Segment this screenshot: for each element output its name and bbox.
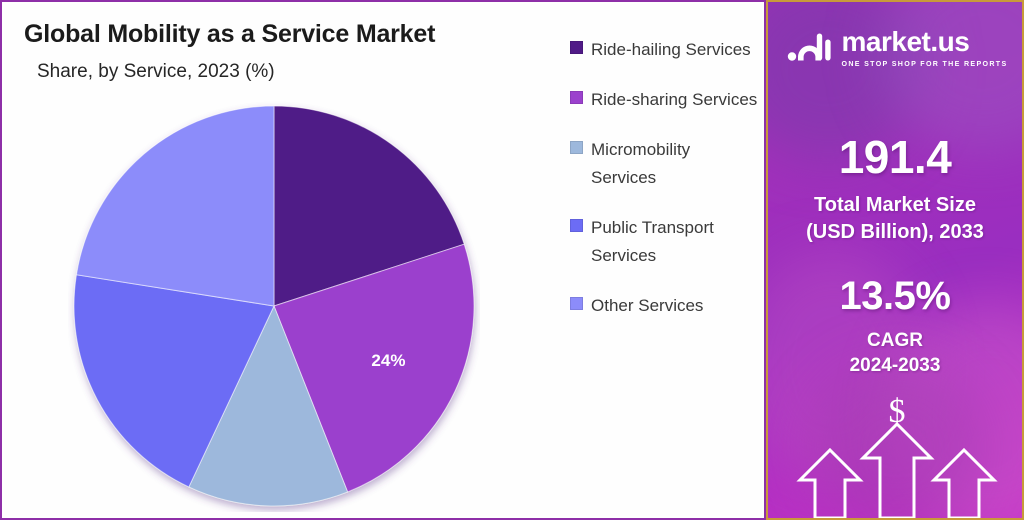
legend-item-other-services[interactable]: Other Services [570, 292, 760, 320]
pie-chart-svg [68, 100, 480, 512]
market-size-label: Total Market Size (USD Billion), 2033 [768, 192, 1022, 246]
market-size-label-line1: Total Market Size [814, 194, 976, 216]
arrow-up-right-icon [934, 450, 994, 518]
legend-item-public-transport[interactable]: Public Transport Services [570, 214, 760, 270]
pie-slices [74, 106, 474, 506]
cagr-value: 13.5% [768, 274, 1022, 319]
pie-chart: 24% [68, 100, 480, 512]
logo-tagline: ONE STOP SHOP FOR THE REPORTS [842, 60, 1008, 68]
cagr-label: CAGR 2024-2033 [768, 328, 1022, 378]
chart-legend: Ride-hailing Services Ride-sharing Servi… [570, 36, 760, 342]
cagr-label-line1: CAGR [867, 330, 923, 351]
logo-wordmark: market.us [842, 28, 970, 56]
page-title: Global Mobility as a Service Market [24, 20, 435, 49]
legend-item-micromobility[interactable]: Micromobility Services [570, 136, 760, 192]
arrow-up-center-icon [863, 424, 931, 518]
growth-arrows-graphic: $ [768, 388, 1024, 518]
legend-label: Public Transport Services [591, 214, 760, 270]
legend-swatch-icon [570, 141, 583, 154]
legend-swatch-icon [570, 91, 583, 104]
legend-swatch-icon [570, 297, 583, 310]
legend-swatch-icon [570, 219, 583, 232]
stats-sidebar: market.us ONE STOP SHOP FOR THE REPORTS … [766, 0, 1024, 520]
market-us-logo-icon [787, 30, 833, 67]
market-size-label-line2: (USD Billion), 2033 [806, 221, 984, 243]
legend-item-ride-sharing[interactable]: Ride-sharing Services [570, 86, 760, 114]
chart-infographic: Global Mobility as a Service Market Shar… [0, 0, 1024, 520]
legend-label: Micromobility Services [591, 136, 760, 192]
legend-label: Other Services [591, 292, 703, 320]
pie-slice[interactable] [76, 106, 274, 306]
brand-logo[interactable]: market.us ONE STOP SHOP FOR THE REPORTS [784, 28, 1010, 68]
pie-slice-label-ride-sharing: 24% [371, 351, 405, 371]
arrow-up-left-icon [800, 450, 860, 518]
market-size-value: 191.4 [768, 130, 1022, 184]
cagr-label-line2: 2024-2033 [850, 355, 941, 376]
chart-panel-inner: Global Mobility as a Service Market Shar… [4, 4, 762, 516]
legend-label: Ride-hailing Services [591, 36, 751, 64]
chart-panel: Global Mobility as a Service Market Shar… [0, 0, 766, 520]
legend-label: Ride-sharing Services [591, 86, 757, 114]
legend-swatch-icon [570, 41, 583, 54]
legend-item-ride-hailing[interactable]: Ride-hailing Services [570, 36, 760, 64]
chart-subtitle: Share, by Service, 2023 (%) [37, 61, 275, 83]
